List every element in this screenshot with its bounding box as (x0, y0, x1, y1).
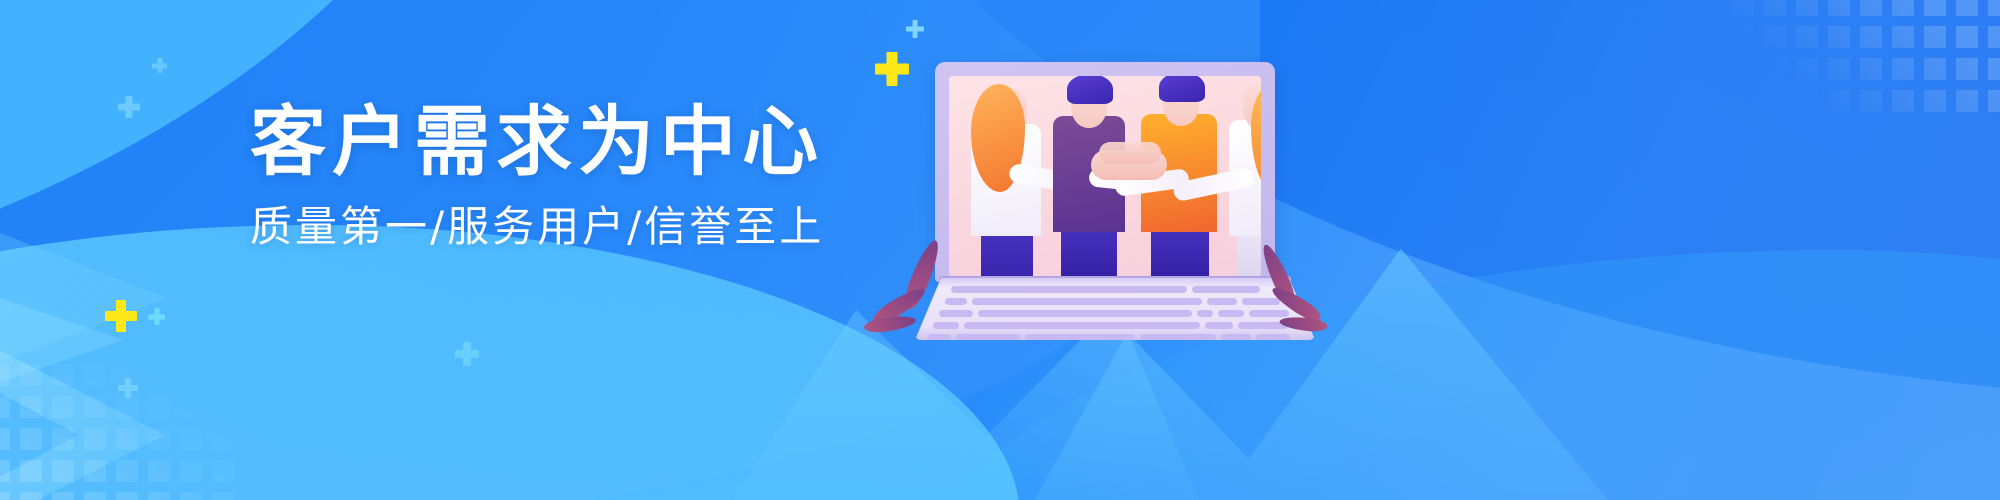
hair (1067, 76, 1113, 104)
stacked-hands-upper (1099, 142, 1161, 164)
plus-icon-yellow-large (875, 52, 909, 86)
plus-icon-cyan-faint-upper (118, 96, 140, 118)
plus-icon-cyan-small-top (906, 20, 924, 38)
page-title: 客户需求为中心 (250, 104, 870, 180)
leaf-decoration-3 (863, 313, 916, 334)
keyboard-row-2 (945, 298, 1280, 305)
person-woman-right (1217, 80, 1261, 276)
laptop-base (915, 278, 1315, 340)
laptop-screen (949, 76, 1261, 276)
person-woman-left (957, 84, 1053, 276)
background-wave-bottom-left (0, 225, 1020, 500)
square-grid-top-right (1732, 0, 2000, 112)
keyboard-row-4 (933, 322, 1288, 329)
chevron-shape-3 (0, 330, 290, 500)
page-subtitle: 质量第一/服务用户/信誉至上 (250, 206, 870, 248)
hair (1159, 76, 1205, 102)
promo-banner: 客户需求为中心 质量第一/服务用户/信誉至上 (0, 0, 2000, 500)
plus-icon-cyan-bottom-left (148, 308, 165, 325)
keyboard-row-5 (927, 334, 1290, 341)
plus-icon-cyan-grid-area (118, 378, 138, 398)
laptop-lid (935, 62, 1275, 282)
keyboard-row-1 (951, 286, 1260, 293)
keyboard-row-3 (939, 310, 1289, 317)
plus-icon-cyan-center (455, 342, 479, 366)
square-grid-bottom-left (0, 364, 234, 500)
laptop-illustration (915, 62, 1315, 352)
plus-icon-cyan-faint-left (152, 58, 167, 73)
banner-text-block: 客户需求为中心 质量第一/服务用户/信誉至上 (250, 104, 870, 248)
plus-icon-yellow-bottom-left (105, 300, 137, 332)
